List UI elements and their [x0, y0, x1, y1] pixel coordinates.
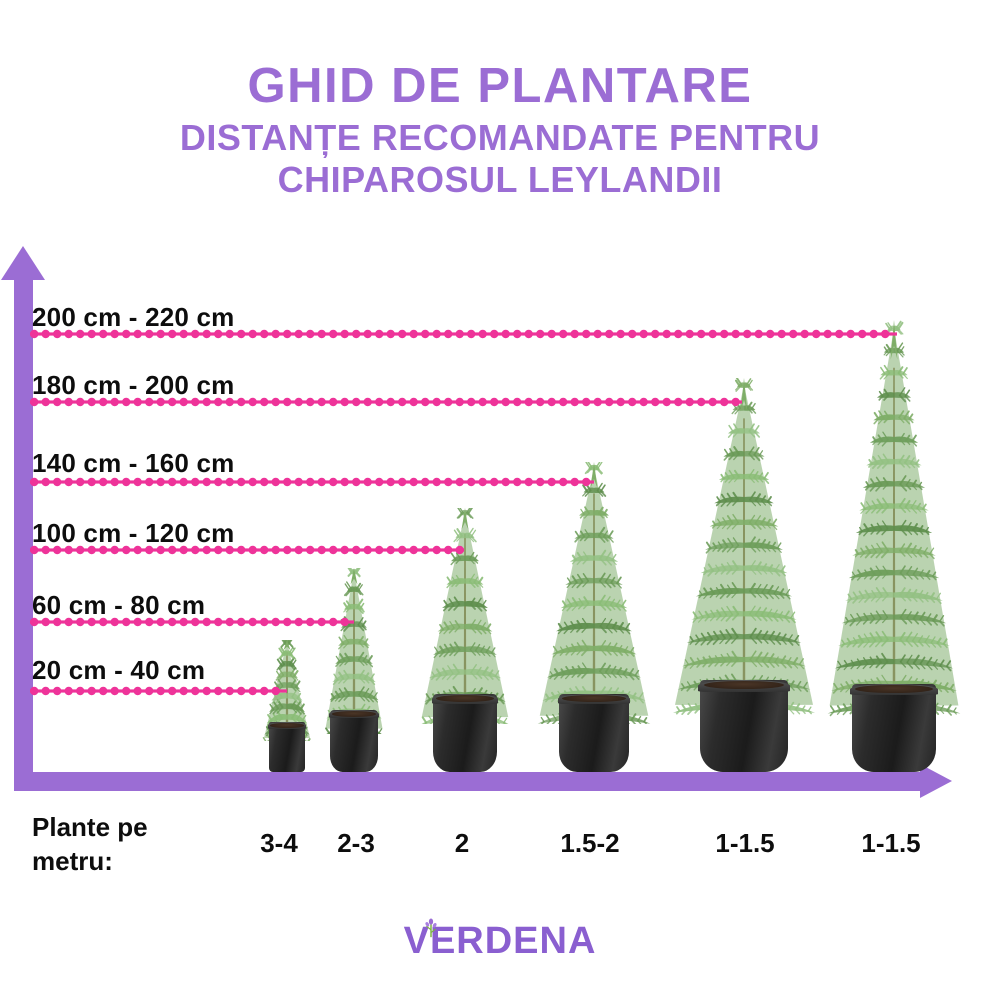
tree-3-pot [433, 694, 497, 772]
brand-logo: VERDENA [0, 920, 1000, 963]
pot-soil [270, 723, 303, 728]
density-label-6: 1-1.5 [861, 828, 920, 859]
pot-soil [855, 685, 932, 693]
tree-1-pot [269, 722, 305, 772]
tree-4 [535, 462, 653, 772]
height-axis [14, 272, 33, 791]
density-label-3: 2 [455, 828, 469, 859]
pot-soil [436, 695, 495, 702]
height-axis-arrowhead [1, 246, 45, 280]
tree-2-pot [330, 710, 378, 772]
pot-soil [332, 711, 376, 717]
tree-6-foliage [824, 320, 964, 717]
tree-5 [669, 378, 819, 772]
tree-4-pot [559, 694, 629, 772]
tree-6-pot [852, 684, 936, 772]
measurement-label-3: 140 cm - 160 cm [32, 448, 234, 479]
density-label-4: 1.5-2 [560, 828, 619, 859]
tree-3-foliage [418, 508, 512, 724]
density-label-5: 1-1.5 [715, 828, 774, 859]
lavender-sprig-icon [420, 917, 442, 939]
tree-5-pot [700, 680, 788, 772]
measurement-label-4: 100 cm - 120 cm [32, 518, 234, 549]
tree-2-foliage [323, 568, 385, 734]
measurement-label-5: 60 cm - 80 cm [32, 590, 205, 621]
measurement-label-2: 180 cm - 200 cm [32, 370, 234, 401]
plant-size-axis [14, 772, 926, 791]
density-label-1: 3-4 [260, 828, 298, 859]
measurement-label-6: 20 cm - 40 cm [32, 655, 205, 686]
measurement-label-1: 200 cm - 220 cm [32, 302, 234, 333]
density-label-2: 2-3 [337, 828, 375, 859]
tree-1 [262, 640, 312, 772]
plants-per-meter-label: Plante pe metru: [32, 810, 222, 879]
tree-4-foliage [535, 462, 653, 724]
planting-guide-chart: 200 cm - 220 cm180 cm - 200 cm140 cm - 1… [0, 0, 1000, 1000]
pot-soil [562, 695, 626, 702]
tree-5-foliage [669, 378, 819, 715]
tree-2 [323, 568, 385, 772]
tree-6 [824, 320, 964, 772]
measurement-line-6 [30, 685, 287, 697]
